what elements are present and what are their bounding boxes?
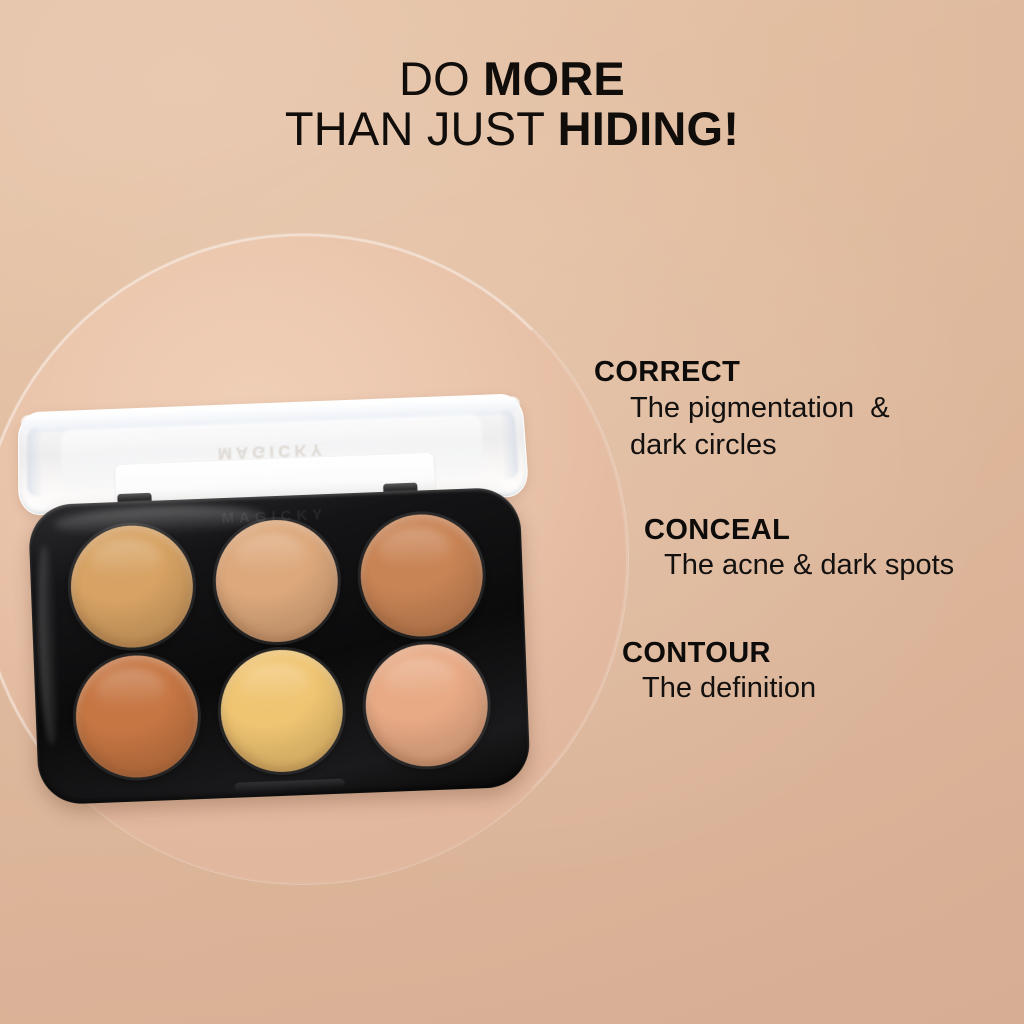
benefit-item-conceal: CONCEAL The acne & dark spots: [586, 514, 1024, 585]
benefit-item-correct: CORRECT The pigmentation & dark circles: [586, 356, 1024, 464]
pan-cell-3: [354, 512, 489, 639]
benefit-desc-conceal: The acne & dark spots: [664, 547, 1024, 584]
headline-line-2-light: THAN JUST: [285, 102, 558, 155]
headline-line-1-light: DO: [399, 52, 483, 105]
pan-highlight: [94, 667, 166, 711]
pan-banana-yellow: [218, 648, 345, 775]
headline-line-2-bold: HIDING!: [558, 102, 740, 155]
base-edge-highlight: [35, 545, 61, 746]
headline-line-2: THAN JUST HIDING!: [0, 104, 1024, 154]
benefit-desc-correct: The pigmentation & dark circles: [630, 390, 1024, 464]
pan-highlight: [233, 531, 305, 575]
benefit-desc-contour: The definition: [642, 670, 1024, 707]
pan-highlight: [238, 661, 310, 705]
pan-highlight: [89, 537, 161, 581]
headline-line-1: DO MORE: [0, 54, 1024, 104]
benefit-item-contour: CONTOUR The definition: [586, 637, 1024, 708]
pan-highlight: [383, 655, 455, 699]
pan-cell-1: [65, 523, 200, 650]
pan-soft-peach: [363, 642, 490, 769]
pan-cell-6: [359, 642, 494, 769]
pan-cell-5: [214, 647, 349, 774]
headline: DO MORE THAN JUST HIDING!: [0, 54, 1024, 154]
benefit-title-contour: CONTOUR: [622, 637, 1024, 671]
benefit-title-correct: CORRECT: [594, 356, 1024, 390]
headline-line-1-bold: MORE: [483, 52, 625, 105]
pan-golden-tan: [69, 523, 196, 650]
pan-highlight: [378, 526, 450, 570]
pan-caramel: [358, 512, 485, 639]
benefit-title-conceal: CONCEAL: [644, 514, 1024, 548]
benefit-list: CORRECT The pigmentation & dark circles …: [586, 356, 1024, 747]
pan-peach-tan: [213, 518, 340, 645]
pan-cell-2: [209, 518, 344, 645]
pan-grid: [65, 512, 494, 780]
promo-image: DO MORE THAN JUST HIDING! CORRECT The pi…: [0, 0, 1024, 1024]
base-thumb-notch: [235, 779, 345, 792]
pan-cell-4: [70, 653, 205, 780]
pan-burnt-bronze: [74, 653, 201, 780]
product-palette: MAGICKY MAGICKY: [10, 382, 547, 842]
palette-base: MAGICKY: [28, 487, 531, 806]
